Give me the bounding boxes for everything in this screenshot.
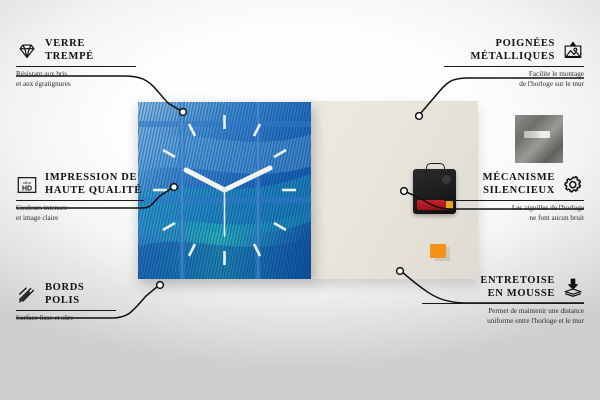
ultra-hd-icon-top: ultra (23, 180, 32, 185)
feature-subtitle: Facilite le montage de l'horloge sur le … (444, 70, 584, 88)
arrow-into-layers-icon (562, 277, 584, 299)
feature-title: BORDS POLIS (45, 282, 84, 307)
ultra-hd-icon: ultra HD (16, 174, 38, 196)
feature-entretoise-mousse: ENTRETOISE EN MOUSSE Permet de maintenir… (422, 275, 584, 326)
feature-subtitle: Les aiguilles de l'horloge ne font aucun… (444, 204, 584, 222)
feature-title: IMPRESSION DE HAUTE QUALITÉ (45, 172, 142, 197)
infographic-canvas: VERRE TREMPÉ Résistant aux bris et aux é… (0, 0, 600, 400)
feature-rule (444, 66, 584, 67)
feature-rule (16, 66, 136, 67)
feature-title: ENTRETOISE EN MOUSSE (480, 275, 555, 300)
hanging-frame-icon (562, 40, 584, 62)
feature-subtitle: Résistant aux bris et aux égratignures (16, 70, 136, 88)
feature-rule (16, 310, 116, 311)
feature-impression-hd: ultra HD IMPRESSION DE HAUTE QUALITÉ Cou… (16, 172, 144, 223)
feature-title: POIGNÉES MÉTALLIQUES (470, 38, 555, 63)
feature-rule (422, 303, 584, 304)
feature-mecanisme-silencieux: MÉCANISME SILENCIEUX Les aiguilles de l'… (444, 172, 584, 223)
polished-edges-icon (16, 284, 38, 306)
feature-rule (16, 200, 144, 201)
ultra-hd-icon-bottom: HD (22, 185, 32, 192)
feature-subtitle: Permet de maintenir une distance uniform… (422, 307, 584, 325)
feature-title: VERRE TREMPÉ (45, 38, 94, 63)
feature-verre-trempe: VERRE TREMPÉ Résistant aux bris et aux é… (16, 38, 136, 89)
gear-icon (562, 174, 584, 196)
feature-subtitle: Surface lisse et sûre (16, 314, 116, 323)
feature-rule (444, 200, 584, 201)
feature-subtitle: Couleurs intenses et image claire (16, 204, 144, 222)
diamond-icon (16, 40, 38, 62)
feature-poignees-metalliques: POIGNÉES MÉTALLIQUES Facilite le montage… (444, 38, 584, 89)
feature-title: MÉCANISME SILENCIEUX (483, 172, 555, 197)
feature-bords-polis: BORDS POLIS Surface lisse et sûre (16, 282, 116, 324)
